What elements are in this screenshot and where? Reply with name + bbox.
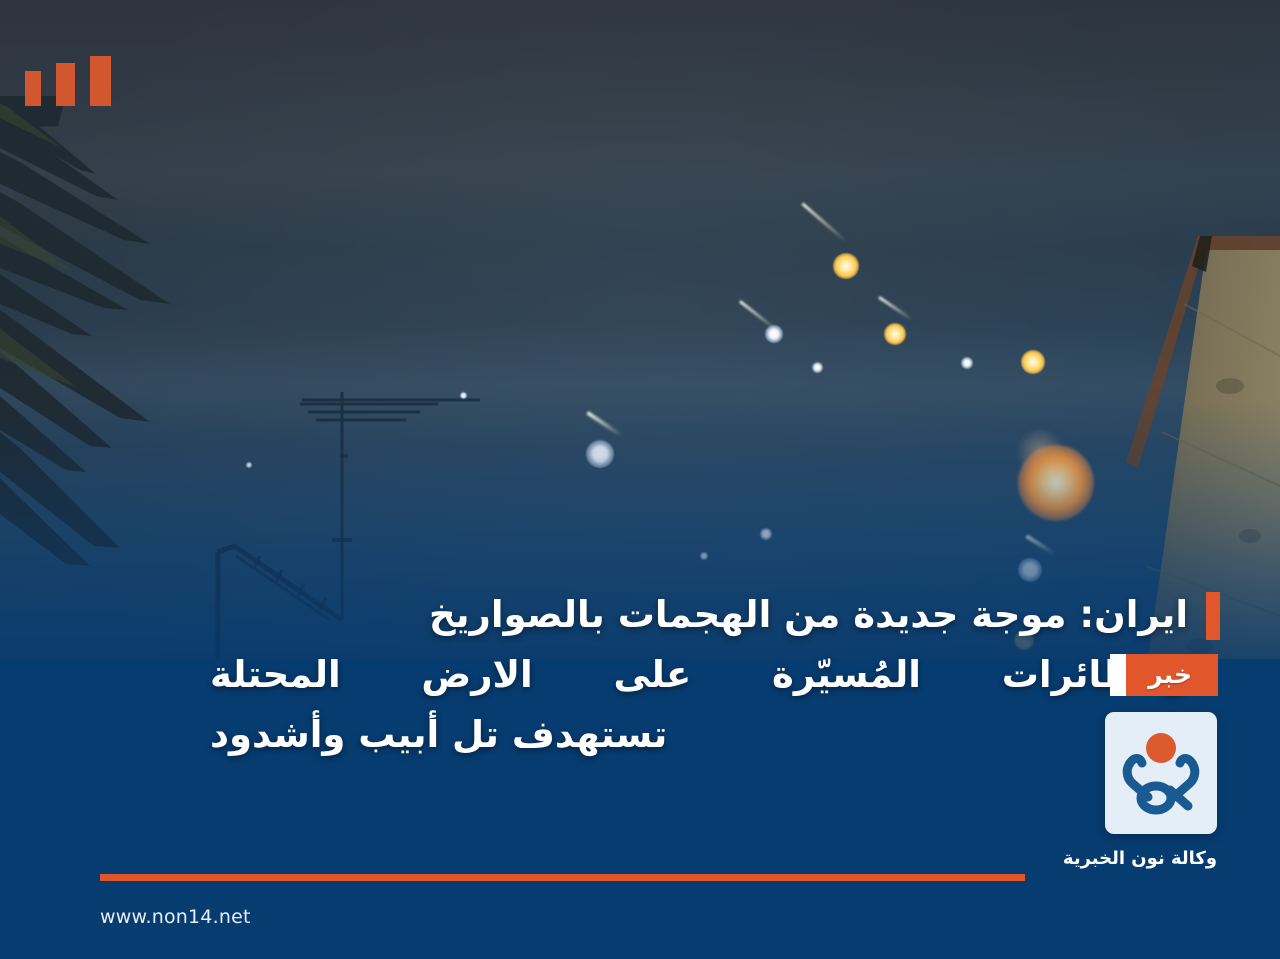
- headline-text: ايران: موجة جديدة من الهجمات بالصواريخ و…: [210, 585, 1188, 765]
- news-badge-label: خبر: [1126, 654, 1218, 696]
- agency-logo: [1105, 712, 1217, 834]
- noon-logo-icon: [1118, 727, 1204, 819]
- news-badge: خبر: [1110, 654, 1218, 696]
- footer-divider: [100, 874, 1025, 881]
- headline-accent-bar: [1206, 592, 1220, 640]
- headline-line-3: تستهدف تل أبيب وأشدود: [210, 705, 1188, 765]
- agency-name: وكالة نون الخبرية: [1040, 848, 1240, 869]
- news-badge-tick: [1110, 654, 1126, 696]
- brand-bar-3: [25, 71, 41, 106]
- headline-block: ايران: موجة جديدة من الهجمات بالصواريخ و…: [210, 585, 1220, 765]
- headline-line-2: والطائرات المُسيّرة على الارض المحتلة: [210, 645, 1188, 705]
- news-card: ايران: موجة جديدة من الهجمات بالصواريخ و…: [0, 0, 1280, 959]
- brand-bars-mark: [25, 56, 111, 106]
- headline-line-1: ايران: موجة جديدة من الهجمات بالصواريخ: [210, 585, 1188, 645]
- brand-bar-2: [56, 63, 75, 106]
- brand-bar-1: [90, 56, 111, 106]
- website-url: www.non14.net: [100, 906, 251, 928]
